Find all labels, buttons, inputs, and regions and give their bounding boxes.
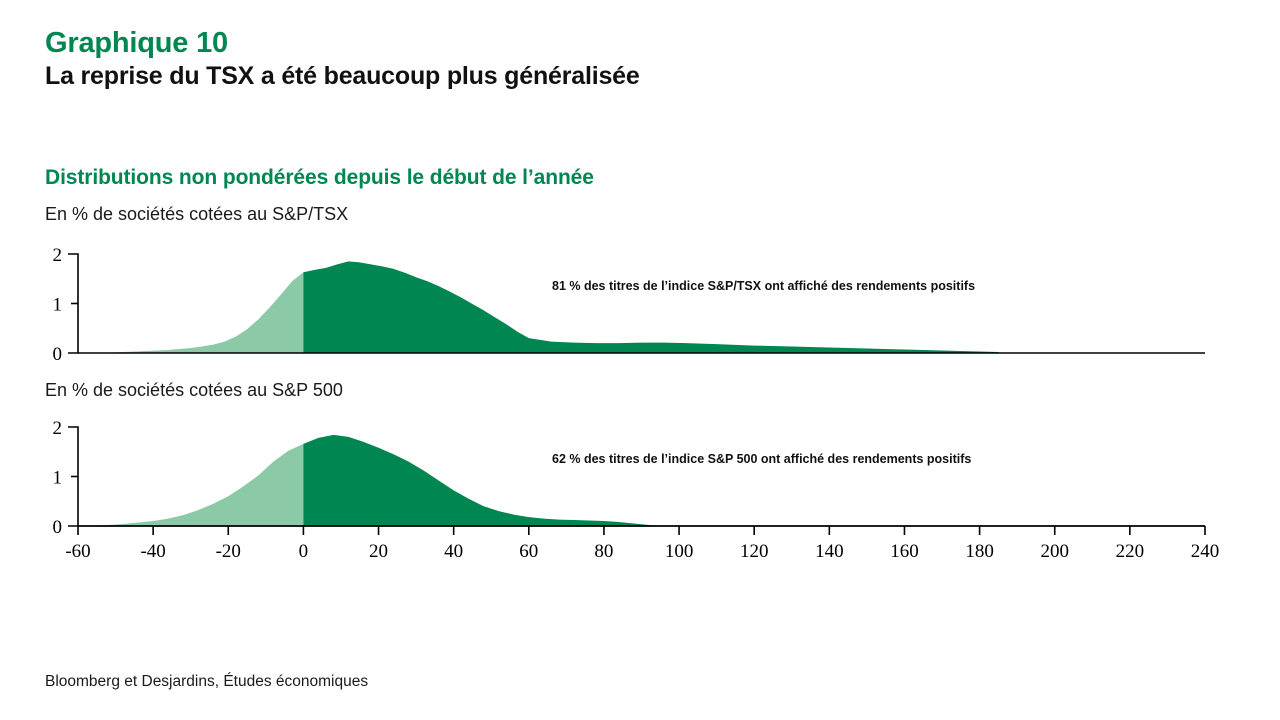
- y-axis-tick-label: 2: [53, 245, 63, 266]
- y-axis-tick-label: 1: [53, 468, 63, 489]
- x-axis-tick-label: 180: [965, 541, 994, 562]
- area-negative-returns: [78, 272, 303, 353]
- area-positive-returns: [303, 261, 998, 353]
- x-axis-tick-label: 40: [444, 541, 463, 562]
- x-axis-tick-label: 240: [1191, 541, 1220, 562]
- x-axis-tick-label: -60: [65, 541, 90, 562]
- y-axis-tick-label: 1: [53, 295, 63, 316]
- x-axis-tick-label: 120: [740, 541, 769, 562]
- area-positive-returns: [303, 435, 660, 526]
- x-axis-tick-label: 80: [594, 541, 613, 562]
- y-axis-tick-label: 0: [53, 344, 63, 365]
- x-axis-tick-label: 220: [1116, 541, 1145, 562]
- y-axis-tick-label: 2: [53, 418, 63, 439]
- x-axis-tick-label: -40: [140, 541, 165, 562]
- plot-tsx: 012: [53, 245, 1206, 365]
- chart-canvas: 012 012 -60-40-2002040608010012014016018…: [0, 0, 1280, 720]
- annotation-tsx: 81 % des titres de l’indice S&P/TSX ont …: [552, 279, 975, 293]
- x-axis-tick-label: -20: [216, 541, 241, 562]
- x-axis-tick-label: 200: [1040, 541, 1069, 562]
- slide-root: Graphique 10 La reprise du TSX a été bea…: [0, 0, 1280, 720]
- y-axis-tick-label: 0: [53, 517, 63, 538]
- source-note: Bloomberg et Desjardins, Études économiq…: [45, 673, 368, 691]
- x-axis-tick-label: 140: [815, 541, 844, 562]
- x-axis-tick-label: 60: [519, 541, 538, 562]
- x-axis-tick-label: 0: [299, 541, 309, 562]
- x-axis-shared: -60-40-200204060801001201401601802002202…: [65, 526, 1219, 562]
- annotation-sp500: 62 % des titres de l’indice S&P 500 ont …: [552, 452, 971, 466]
- x-axis-tick-label: 100: [665, 541, 694, 562]
- area-negative-returns: [78, 444, 303, 526]
- x-axis-tick-label: 20: [369, 541, 388, 562]
- plot-sp500: 012: [53, 418, 1206, 538]
- x-axis-tick-label: 160: [890, 541, 919, 562]
